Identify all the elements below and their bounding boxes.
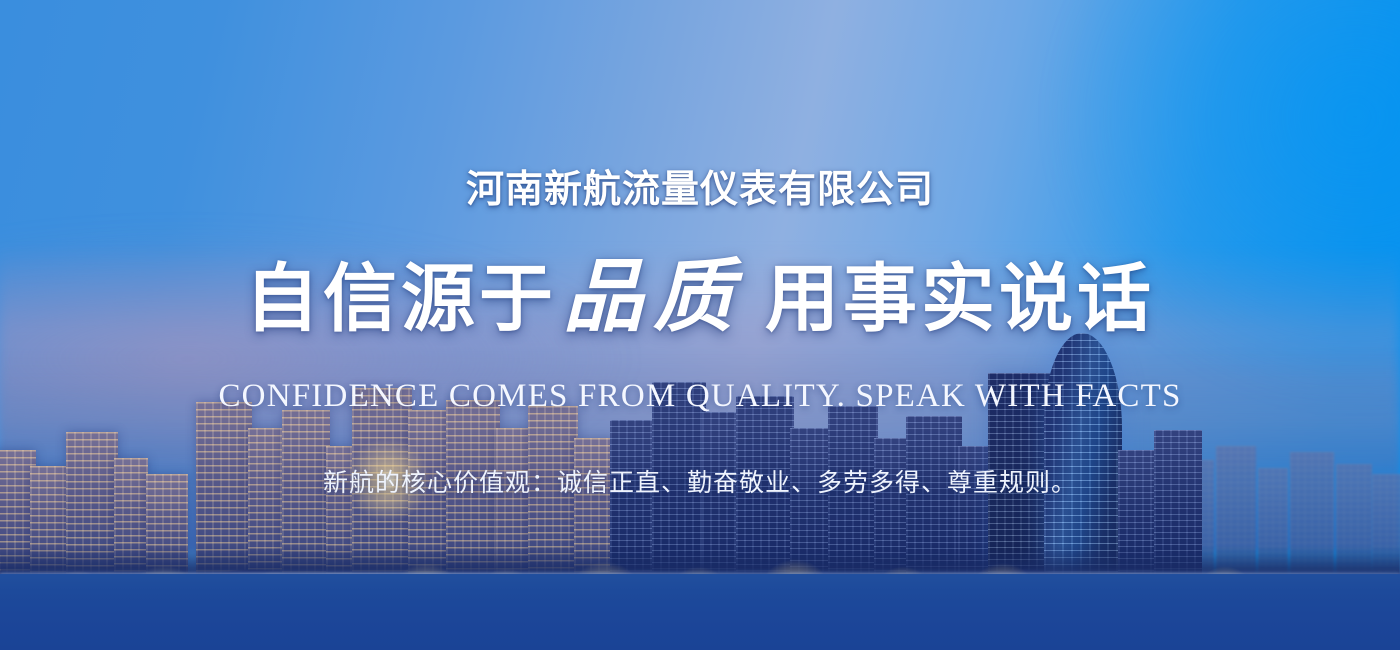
headline-part-2: 用事实说话 — [765, 257, 1155, 340]
headline: 自信源于品质用事实说话 — [0, 256, 1400, 336]
headline-brush-word: 品质 — [557, 249, 749, 343]
company-name: 河南新航流量仪表有限公司 — [0, 158, 1400, 213]
headline-part-1: 自信源于 — [245, 257, 557, 340]
english-subtitle: CONFIDENCE COMES FROM QUALITY. SPEAK WIT… — [0, 378, 1400, 415]
building-landmark-tower — [1044, 333, 1122, 578]
core-values-tagline: 新航的核心价值观：诚信正直、勤奋敬业、多劳多得、尊重规则。 — [0, 463, 1400, 499]
hero-banner: 河南新航流量仪表有限公司 自信源于品质用事实说话 CONFIDENCE COME… — [0, 0, 1400, 650]
water-surface — [0, 574, 1400, 650]
